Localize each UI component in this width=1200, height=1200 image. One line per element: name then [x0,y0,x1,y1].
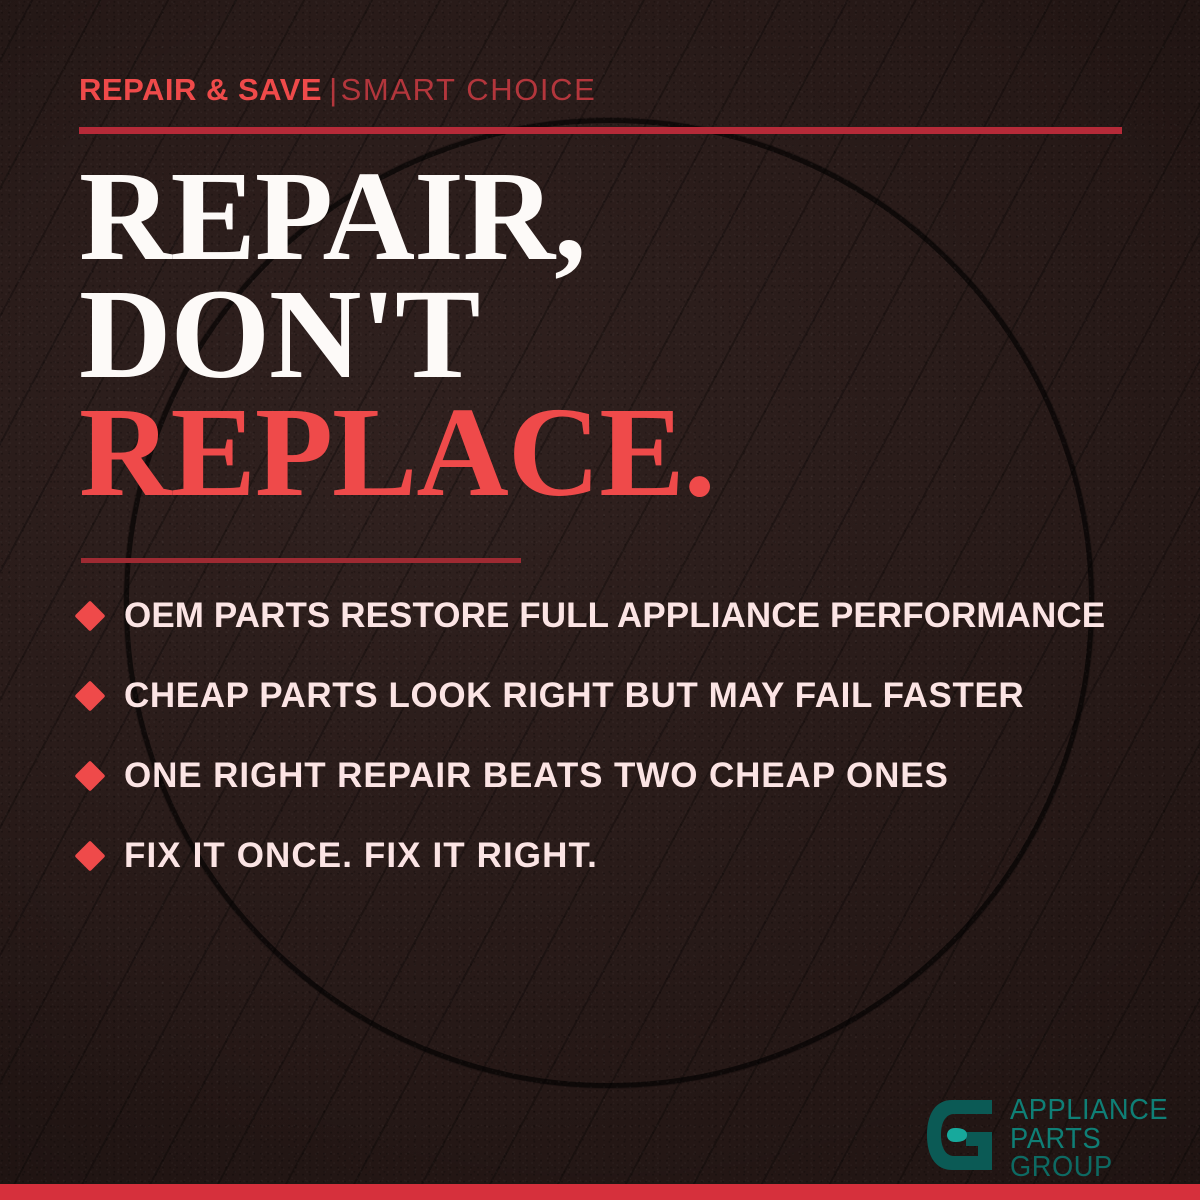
list-item-label: ONE RIGHT REPAIR BEATS TWO CHEAP ONES [124,756,949,796]
list-item: OEM PARTS RESTORE FULL APPLIANCE PERFORM… [79,586,1149,646]
page-title: REPAIR, DON'T REPLACE. [79,158,715,511]
letter-g-monogram-icon [922,1094,998,1176]
kicker-main-text: REPAIR & SAVE [79,72,322,107]
diamond-bullet-icon [74,840,105,871]
divider-top [79,127,1122,134]
list-item-label: FIX IT ONCE. FIX IT RIGHT. [124,836,598,876]
brand-logo-text: APPLIANCE PARTS GROUP [1010,1094,1178,1182]
brand-logo-line-1: APPLIANCE [1010,1096,1168,1125]
brand-logo: APPLIANCE PARTS GROUP [922,1094,1178,1182]
diamond-bullet-icon [74,680,105,711]
list-item: FIX IT ONCE. FIX IT RIGHT. [79,826,1149,886]
headline-line-3: REPLACE. [79,394,715,512]
kicker-eyebrow: REPAIR & SAVE|SMART CHOICE [79,74,596,105]
list-item-label: OEM PARTS RESTORE FULL APPLIANCE PERFORM… [124,596,1105,636]
poster-content: REPAIR & SAVE|SMART CHOICE REPAIR, DON'T… [0,0,1200,1200]
headline-line-2: DON'T [79,276,715,394]
kicker-sub-text: SMART CHOICE [341,72,597,107]
headline-line-1: REPAIR, [79,158,715,276]
list-item-label: CHEAP PARTS LOOK RIGHT BUT MAY FAIL FAST… [124,676,1024,716]
list-item: CHEAP PARTS LOOK RIGHT BUT MAY FAIL FAST… [79,666,1149,726]
list-item: ONE RIGHT REPAIR BEATS TWO CHEAP ONES [79,746,1149,806]
brand-logo-line-3: GROUP [1010,1153,1168,1182]
kicker-separator: | [329,72,338,107]
promo-poster: REPAIR & SAVE|SMART CHOICE REPAIR, DON'T… [0,0,1200,1200]
divider-middle [81,558,521,563]
benefit-list: OEM PARTS RESTORE FULL APPLIANCE PERFORM… [79,586,1149,906]
diamond-bullet-icon [74,600,105,631]
brand-logo-line-2: PARTS [1010,1125,1168,1154]
diamond-bullet-icon [74,760,105,791]
footer-accent-bar [0,1184,1200,1200]
